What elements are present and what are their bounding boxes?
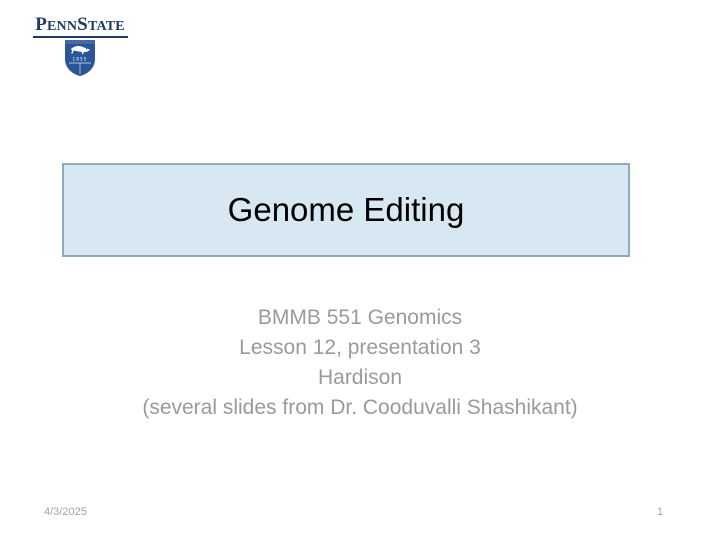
penn-state-logo: PENNSTATE 1855 [28,15,132,77]
wordmark-penn-initial: P [35,14,47,35]
subtitle-line-attribution: (several slides from Dr. Cooduvalli Shas… [60,393,660,423]
slide-title-placeholder[interactable]: Genome Editing [62,163,630,257]
footer-slide-number: 1 [640,505,680,519]
slide-subtitle-placeholder[interactable]: BMMB 551 Genomics Lesson 12, presentatio… [60,303,660,423]
wordmark-state-initial: S [77,14,88,35]
wordmark-penn-rest: ENN [47,19,77,34]
svg-text:1855: 1855 [72,56,87,61]
wordmark-underline-rule [33,36,128,38]
slide-title-text: Genome Editing [228,192,465,228]
subtitle-line-lesson: Lesson 12, presentation 3 [60,333,660,363]
subtitle-line-course: BMMB 551 Genomics [60,303,660,333]
penn-state-shield-icon: 1855 [64,39,96,77]
wordmark-state-rest: TATE [88,19,125,34]
presentation-slide: PENNSTATE 1855 Genome Editing BMMB 551 G… [0,0,720,540]
subtitle-line-author: Hardison [60,363,660,393]
footer-date: 4/3/2025 [44,505,87,519]
